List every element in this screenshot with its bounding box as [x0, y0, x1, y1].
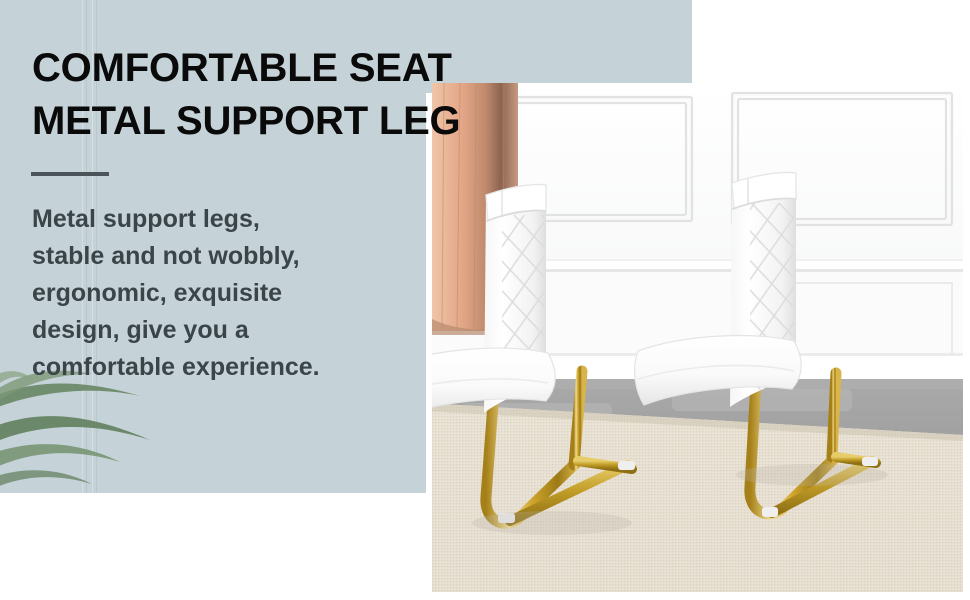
product-photo [432, 83, 963, 592]
description-text: Metal support legs, stable and not wobbl… [32, 201, 412, 386]
product-banner: Metal support legs, stable and not wobbl… [0, 0, 970, 600]
divider-rule [31, 172, 109, 176]
page-title: COMFORTABLE SEAT METAL SUPPORT LEG [32, 42, 652, 148]
